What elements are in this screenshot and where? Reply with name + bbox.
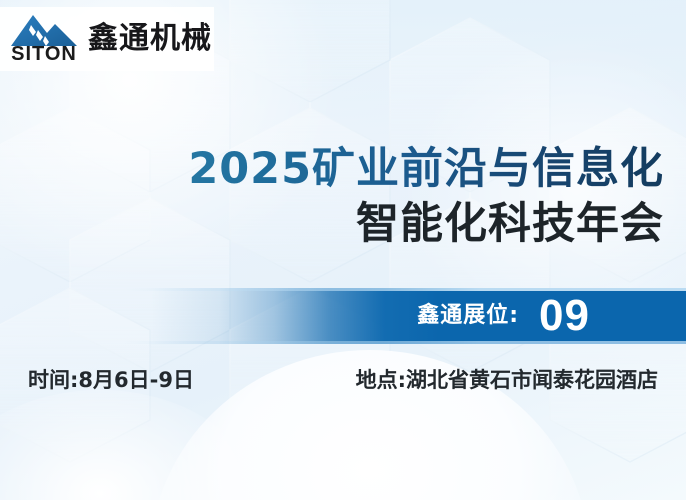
background-cloud-shape-secondary: [0, 390, 260, 500]
siton-mountain-logo-icon: SITON: [8, 13, 80, 65]
poster-canvas: SITON 鑫通机械 2025矿业前沿与信息化 智能化科技年会 鑫通展位: 09…: [0, 0, 686, 500]
title-line-2: 智能化科技年会: [0, 196, 664, 252]
booth-banner: 鑫通展位: 09: [0, 288, 686, 344]
brand-logo: SITON 鑫通机械: [0, 7, 214, 71]
booth-label: 鑫通展位:: [417, 305, 519, 327]
booth-number: 09: [539, 294, 590, 338]
event-location: 地点:湖北省黄石市闻泰花园酒店: [356, 368, 658, 393]
event-time: 时间:8月6日-9日: [28, 368, 194, 393]
page-title: 2025矿业前沿与信息化 智能化科技年会: [0, 142, 664, 252]
logo-chinese-name: 鑫通机械: [88, 24, 212, 54]
title-line-1: 2025矿业前沿与信息化: [0, 142, 664, 196]
logo-latin-name: SITON: [11, 44, 77, 64]
event-meta-row: 时间:8月6日-9日 地点:湖北省黄石市闻泰花园酒店: [28, 368, 658, 393]
